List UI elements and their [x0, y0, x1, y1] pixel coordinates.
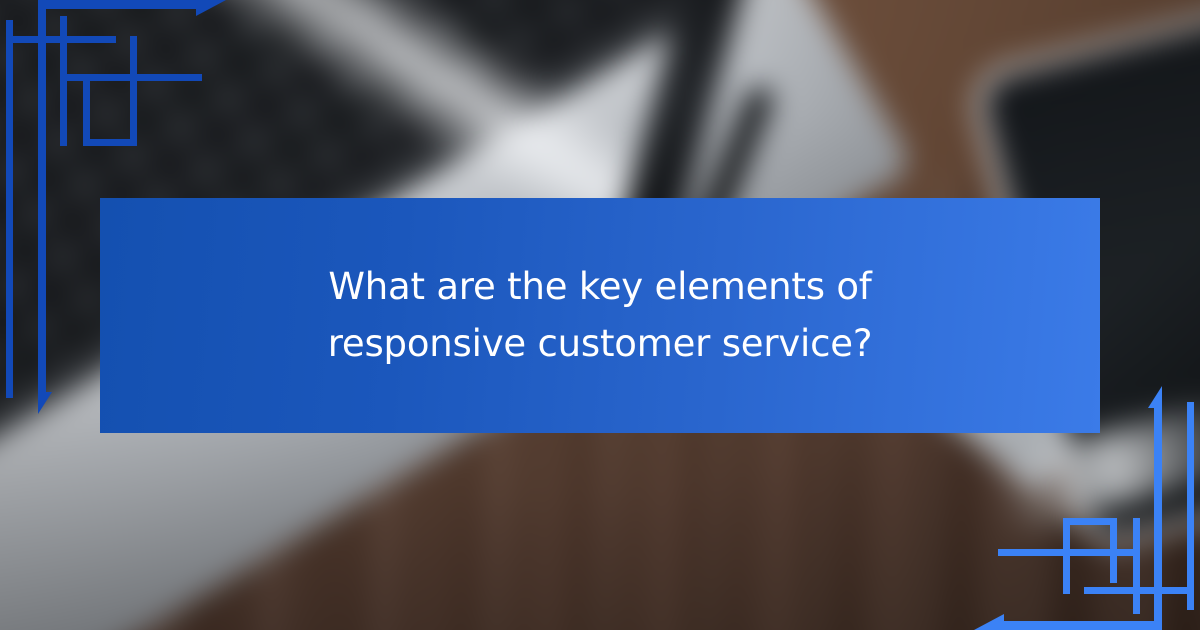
bracket-line-vertical-middle — [38, 0, 46, 398]
bracket-line-vertical-middle — [1154, 402, 1162, 630]
bracket-line-horizontal-middle — [1084, 587, 1194, 594]
bracket-angled-cap — [196, 0, 226, 16]
bracket-square-left-edge — [83, 81, 90, 145]
bracket-line-vertical-inner — [1133, 518, 1140, 614]
social-share-card: What are the key elements of responsive … — [0, 0, 1200, 630]
headline-banner: What are the key elements of responsive … — [100, 198, 1100, 433]
bracket-angled-foot — [1148, 386, 1162, 408]
bracket-line-vertical-outer — [1187, 402, 1194, 610]
bracket-square-left-edge — [1063, 524, 1070, 594]
bracket-square-right-edge — [1110, 525, 1117, 583]
bracket-line-vertical-outer — [6, 20, 13, 398]
page-title: What are the key elements of responsive … — [250, 259, 950, 371]
bracket-square-bottom-edge — [83, 139, 137, 146]
bracket-line-horizontal-top — [38, 0, 208, 9]
bracket-square-top-edge — [1063, 518, 1117, 525]
bracket-line-horizontal-bottom — [992, 621, 1162, 630]
bracket-angled-foot — [38, 392, 52, 414]
bracket-angled-cap — [974, 614, 1004, 630]
bracket-line-horizontal-middle — [6, 36, 116, 43]
bracket-square-right-edge — [130, 36, 137, 140]
